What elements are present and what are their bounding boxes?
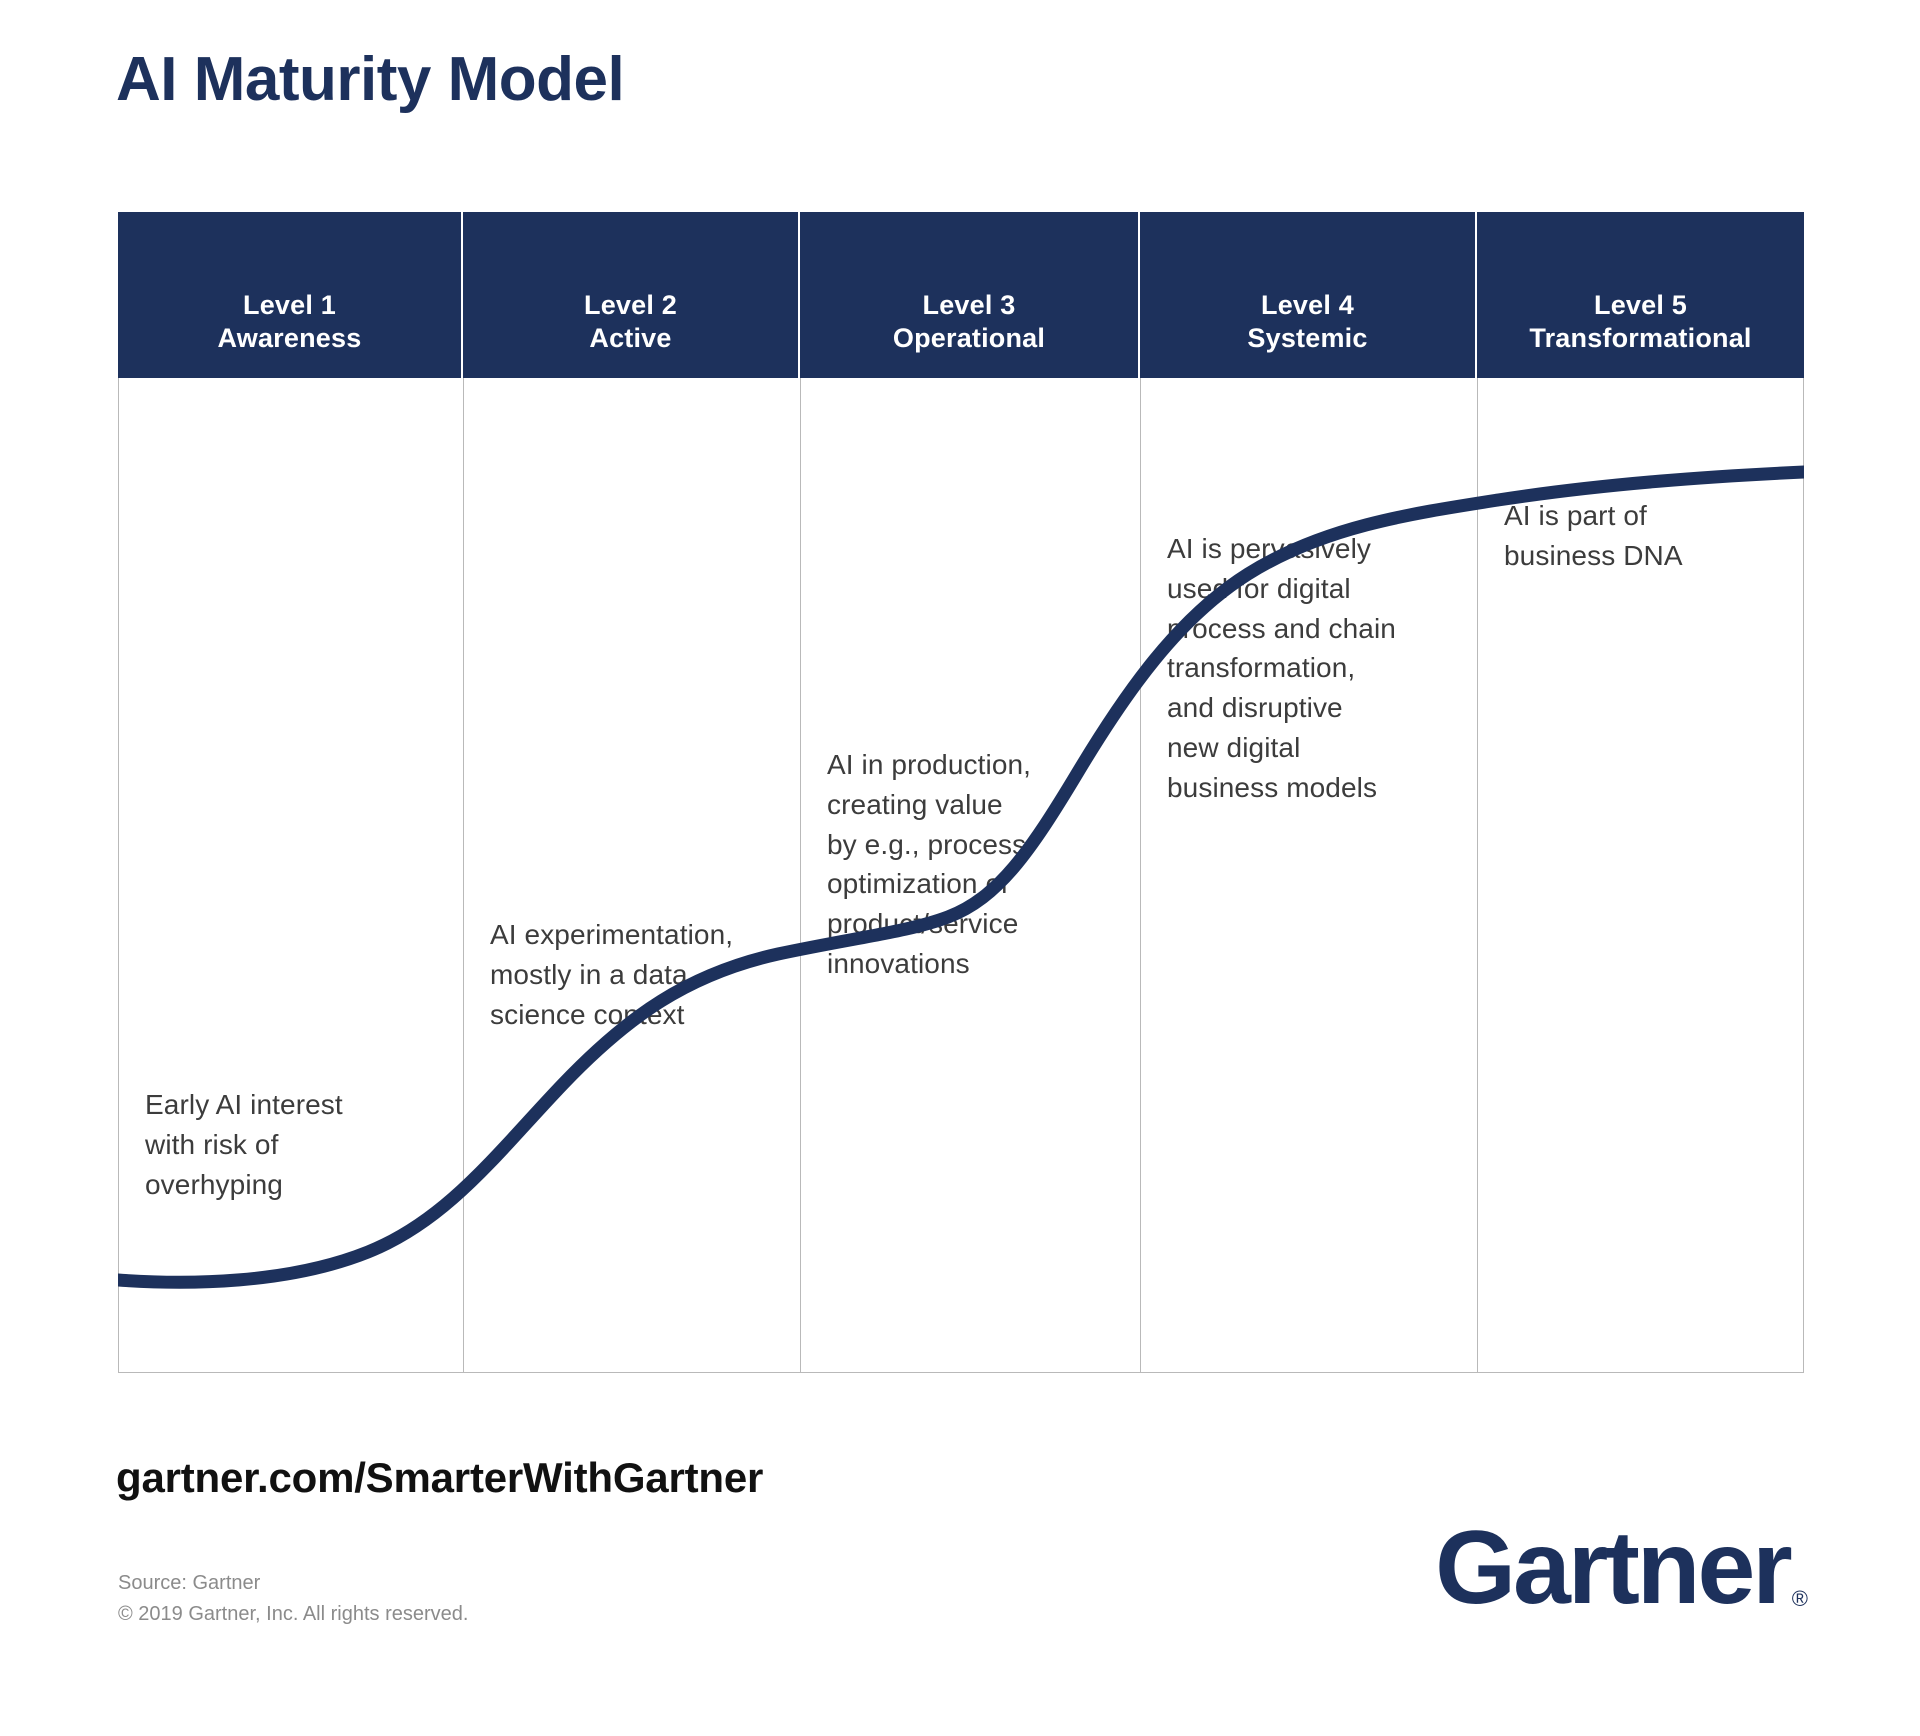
registered-trademark-icon: ®: [1792, 1588, 1808, 1610]
gartner-logo-wordmark: Gartner: [1435, 1516, 1790, 1620]
source-line: Source: Gartner: [118, 1568, 468, 1599]
ai-maturity-model-infographic: AI Maturity Model Level 1 Awareness Leve…: [0, 0, 1920, 1736]
body-cell-level-3: AI in production, creating value by e.g.…: [801, 378, 1141, 1372]
header-cell-level-2: Level 2 Active: [463, 212, 800, 378]
header-level-label-5: Level 5: [1594, 289, 1687, 323]
body-cell-level-4: AI is pervasively used for digital proce…: [1141, 378, 1478, 1372]
body-cell-level-1: Early AI interest with risk of overhypin…: [119, 378, 464, 1372]
level-2-description: AI experimentation, mostly in a data sci…: [490, 915, 782, 1034]
gartner-logo: Gartner ®: [1435, 1516, 1808, 1620]
page-title: AI Maturity Model: [116, 46, 624, 114]
matrix-body-row: Early AI interest with risk of overhypin…: [118, 378, 1804, 1373]
header-level-label-1: Level 1: [243, 289, 336, 323]
header-cell-level-3: Level 3 Operational: [800, 212, 1140, 378]
level-4-description: AI is pervasively used for digital proce…: [1167, 529, 1459, 807]
body-cell-level-2: AI experimentation, mostly in a data sci…: [464, 378, 801, 1372]
level-3-description: AI in production, creating value by e.g.…: [827, 745, 1122, 984]
maturity-matrix: Level 1 Awareness Level 2 Active Level 3…: [118, 212, 1804, 1373]
header-level-name-1: Awareness: [218, 322, 362, 356]
header-level-name-4: Systemic: [1247, 322, 1367, 356]
header-level-label-2: Level 2: [584, 289, 677, 323]
level-5-description: AI is part of business DNA: [1504, 496, 1785, 576]
header-cell-level-4: Level 4 Systemic: [1140, 212, 1477, 378]
header-cell-level-5: Level 5 Transformational: [1477, 212, 1804, 378]
level-1-description: Early AI interest with risk of overhypin…: [145, 1085, 445, 1204]
matrix-header-row: Level 1 Awareness Level 2 Active Level 3…: [118, 212, 1804, 378]
header-level-name-3: Operational: [893, 322, 1045, 356]
header-level-name-2: Active: [589, 322, 671, 356]
header-cell-level-1: Level 1 Awareness: [118, 212, 463, 378]
body-cell-level-5: AI is part of business DNA: [1478, 378, 1803, 1372]
gartner-url[interactable]: gartner.com/SmarterWithGartner: [116, 1454, 763, 1502]
header-level-name-5: Transformational: [1529, 322, 1751, 356]
header-level-label-4: Level 4: [1261, 289, 1354, 323]
copyright-line: © 2019 Gartner, Inc. All rights reserved…: [118, 1599, 468, 1630]
header-level-label-3: Level 3: [923, 289, 1016, 323]
source-attribution: Source: Gartner © 2019 Gartner, Inc. All…: [118, 1568, 468, 1630]
